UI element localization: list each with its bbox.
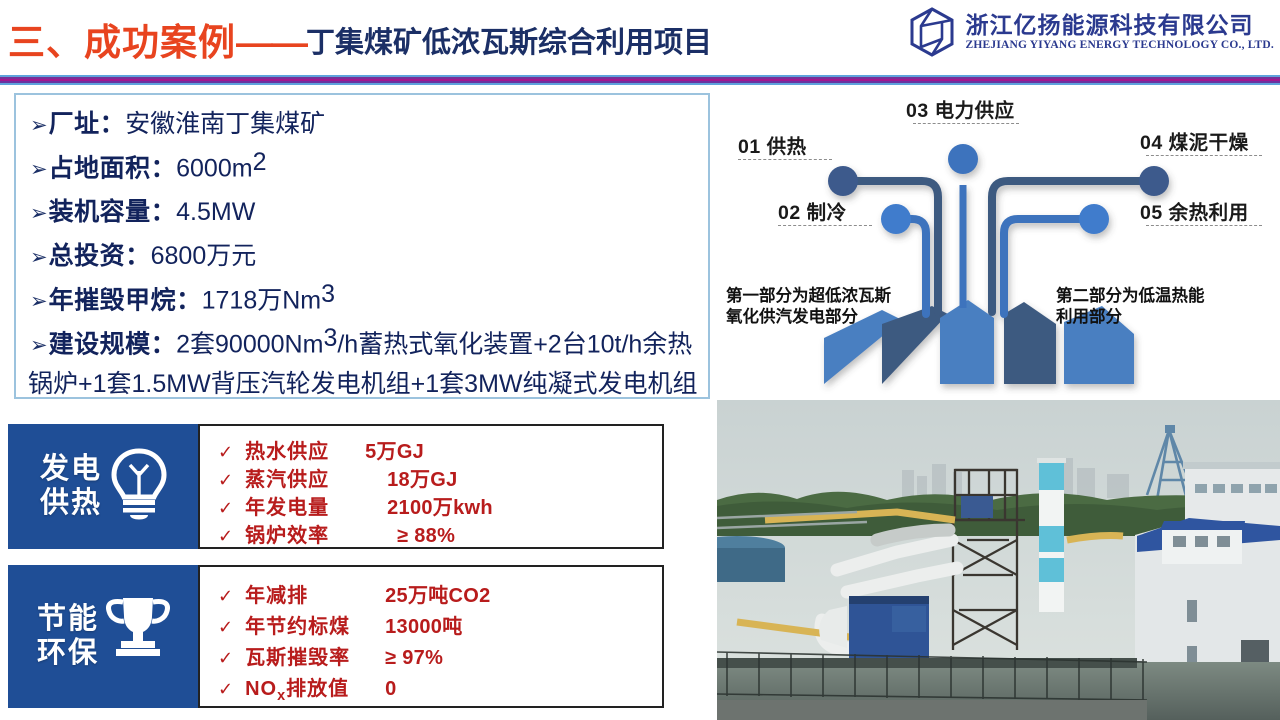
- info-value: 4.5MW: [176, 198, 255, 226]
- card-row: ✓瓦斯摧毁率≥ 97%: [218, 641, 443, 670]
- info-value: 1718万Nm: [202, 286, 322, 314]
- diagram-underline-03: [913, 123, 1019, 124]
- card-row: ✓年节约标煤13000吨: [218, 610, 463, 639]
- info-label: 厂址：: [49, 110, 126, 138]
- header-divider-band: [0, 75, 1280, 85]
- diagram-label-03: 03 电力供应: [906, 94, 1015, 123]
- hexagon-cube-logo-icon: [908, 6, 956, 58]
- info-item-investment: ➢总投资：6800万元: [30, 236, 256, 272]
- energy-flow-diagram: 01 供热 02 制冷 03 电力供应 04 煤泥干燥 05 余热利用 第一部分…: [716, 86, 1280, 400]
- card-row: ✓年发电量2100万kwh: [218, 491, 493, 520]
- check-icon: ✓: [218, 526, 233, 546]
- page-header: 三、成功案例——丁集煤矿低浓瓦斯综合利用项目 浙江亿扬能源科技有限公司 ZHEJ…: [0, 0, 1280, 86]
- project-info-box: ➢厂址：安徽淮南丁集煤矿 ➢占地面积：6000m2 ➢装机容量：4.5MW ➢总…: [14, 93, 710, 399]
- nox-label: NOx排放值: [245, 672, 385, 704]
- diagram-note-right: 第二部分为低温热能 利用部分: [1056, 286, 1205, 328]
- card-power-heat-title: 发电 供热: [40, 453, 102, 519]
- diagram-underline-01: [738, 159, 832, 160]
- plant-photo: [717, 400, 1280, 720]
- info-value-cont2: 锅炉+1套1.5MW背压汽轮发电机组+1套3MW纯凝式发电机组: [28, 370, 698, 398]
- bullet-icon: ➢: [30, 246, 48, 269]
- card-row: ✓蒸汽供应18万GJ: [218, 463, 458, 492]
- card-energy-env-body: ✓年减排25万吨CO2 ✓年节约标煤13000吨 ✓瓦斯摧毁率≥ 97% ✓NO…: [198, 565, 664, 708]
- info-label: 占地面积：: [49, 154, 177, 182]
- bullet-icon: ➢: [30, 114, 48, 137]
- diagram-label-02: 02 制冷: [778, 196, 847, 225]
- company-logo: 浙江亿扬能源科技有限公司 ZHEJIANG YIYANG ENERGY TECH…: [908, 6, 1274, 58]
- info-value: 安徽淮南丁集煤矿: [125, 110, 325, 138]
- bullet-icon: ➢: [30, 334, 48, 357]
- diagram-label-05: 05 余热利用: [1140, 196, 1249, 225]
- lightbulb-icon: [106, 445, 172, 528]
- plant-photo-graphic: [717, 400, 1280, 720]
- check-icon: ✓: [218, 442, 233, 462]
- info-item-capacity: ➢装机容量：4.5MW: [30, 192, 255, 228]
- check-icon: ✓: [218, 617, 233, 637]
- logo-text-en: ZHEJIANG YIYANG ENERGY TECHNOLOGY CO., L…: [965, 39, 1274, 52]
- info-value: 6800万元: [151, 242, 257, 270]
- card-power-heat-body: ✓热水供应5万GJ ✓蒸汽供应18万GJ ✓年发电量2100万kwh ✓锅炉效率…: [198, 424, 664, 549]
- info-label: 年摧毁甲烷：: [49, 286, 202, 314]
- info-value-sup: 3: [323, 324, 337, 352]
- info-label: 总投资：: [49, 242, 151, 270]
- diagram-underline-02: [778, 225, 872, 226]
- check-icon: ✓: [218, 470, 233, 490]
- trophy-icon: [103, 594, 173, 663]
- info-item-address: ➢厂址：安徽淮南丁集煤矿: [30, 104, 325, 140]
- logo-text-cn: 浙江亿扬能源科技有限公司: [965, 13, 1274, 37]
- title-subtitle: 丁集煤矿低浓瓦斯综合利用项目: [306, 27, 712, 59]
- check-icon: ✓: [218, 679, 233, 699]
- page-title: 三、成功案例——丁集煤矿低浓瓦斯综合利用项目: [8, 12, 712, 66]
- info-item-area: ➢占地面积：6000m2: [30, 148, 266, 184]
- diagram-label-01: 01 供热: [738, 130, 807, 159]
- diagram-underline-04: [1146, 155, 1262, 156]
- info-value-sup: 3: [321, 280, 335, 308]
- title-number: 三、: [8, 22, 84, 63]
- card-row: ✓NOx排放值0: [218, 672, 397, 704]
- info-value: 6000m: [176, 154, 252, 182]
- info-item-scale: ➢建设规模：2套90000Nm3/h蓄热式氧化装置+2台10t/h余热: [30, 324, 692, 360]
- info-value: 2套90000Nm: [176, 330, 323, 358]
- info-label: 装机容量：: [49, 198, 177, 226]
- card-row: ✓年减排25万吨CO2: [218, 579, 491, 608]
- check-icon: ✓: [218, 586, 233, 606]
- title-main: 成功案例: [84, 22, 236, 63]
- bullet-icon: ➢: [30, 202, 48, 225]
- info-value-cont: /h蓄热式氧化装置+2台10t/h余热: [337, 330, 692, 358]
- card-row: ✓热水供应5万GJ: [218, 435, 424, 464]
- info-label: 建设规模：: [49, 330, 177, 358]
- info-item-scale-line2: 锅炉+1套1.5MW背压汽轮发电机组+1套3MW纯凝式发电机组: [28, 364, 698, 400]
- bullet-icon: ➢: [30, 158, 48, 181]
- diagram-note-left: 第一部分为超低浓瓦斯 氧化供汽发电部分: [726, 286, 891, 328]
- info-value-sup: 2: [253, 148, 267, 176]
- card-energy-env-title: 节能 环保: [37, 603, 99, 669]
- card-energy-env-header: 节能 环保: [8, 565, 198, 708]
- title-dash: ——: [236, 22, 306, 63]
- logo-text-block: 浙江亿扬能源科技有限公司 ZHEJIANG YIYANG ENERGY TECH…: [965, 13, 1274, 52]
- check-icon: ✓: [218, 648, 233, 668]
- check-icon: ✓: [218, 498, 233, 518]
- diagram-label-04: 04 煤泥干燥: [1140, 126, 1249, 155]
- diagram-underline-05: [1146, 225, 1262, 226]
- card-power-heat: 发电 供热 ✓热水供应5万GJ ✓蒸汽供应18万GJ ✓年发电量2100万kwh…: [8, 424, 664, 549]
- card-energy-env: 节能 环保 ✓年减排25万吨CO2 ✓年节约标煤13000吨 ✓瓦斯摧毁率≥ 9…: [8, 565, 664, 708]
- card-power-heat-header: 发电 供热: [8, 424, 198, 549]
- info-item-methane: ➢年摧毁甲烷：1718万Nm3: [30, 280, 335, 316]
- bullet-icon: ➢: [30, 290, 48, 313]
- card-row: ✓锅炉效率≥ 88%: [218, 519, 455, 548]
